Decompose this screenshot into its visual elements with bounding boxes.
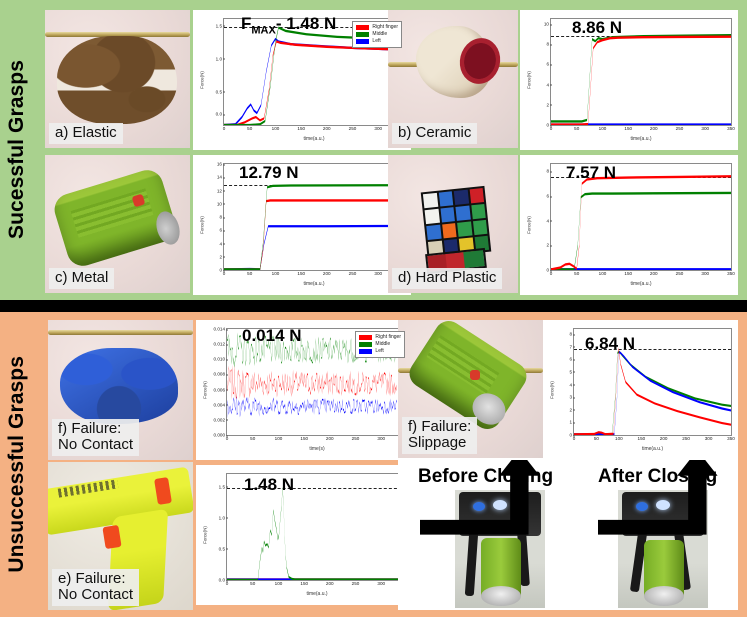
- caption-hard-plastic: d) Hard Plastic: [392, 268, 502, 289]
- plot-b-fmax: 8.86 N: [572, 18, 622, 38]
- plot-a-legend: Right finger Middle Left: [352, 21, 402, 48]
- plot-f1-fmax: 0.014 N: [242, 326, 302, 346]
- successful-grasps-label: Sucessful Grasps: [0, 0, 34, 300]
- plot-f1-legend: Right finger Middle Left: [355, 331, 405, 358]
- photo-slippage-can: f) Failure: Slippage: [398, 320, 543, 458]
- photo-no-contact-blue-toy: f) Failure: No Contact: [48, 320, 193, 460]
- plot-a-ylabel: Force(N): [199, 71, 204, 89]
- plot-f2-ylabel: Force(N): [549, 381, 554, 399]
- plot-f2-fmax: 6.84 N: [585, 334, 635, 354]
- plot-f1-xlabel: time(s): [226, 446, 408, 452]
- caption-no-contact-water-gun: e) Failure: No Contact: [52, 569, 139, 606]
- legend-swatch-middle: [356, 32, 369, 37]
- elastic-turtle-toy: [57, 36, 177, 124]
- legend-swatch-left: [359, 349, 372, 354]
- plot-hard-plastic: Force(N) time(a.u.) 0 2 4 6 8 0 50 100 1…: [520, 155, 738, 295]
- arrow-before-to-plot: [420, 460, 550, 552]
- section-divider: [0, 300, 747, 312]
- water-gun-trigger: [102, 525, 121, 549]
- caption-slippage: f) Failure: Slippage: [402, 417, 477, 454]
- blue-plastic-dog-toy: [60, 348, 178, 424]
- plot-a-xlabel: time(a.u.): [223, 136, 405, 142]
- plot-d-xlabel: time(a.u.): [550, 281, 732, 287]
- legend-item-middle: Middle: [359, 341, 401, 347]
- photo-hard-plastic: d) Hard Plastic: [388, 155, 518, 293]
- plot-d-ylabel: Force(N): [526, 216, 531, 234]
- can-bottom: [644, 586, 684, 606]
- can-logo-dot: [470, 370, 480, 380]
- photo-metal: c) Metal: [45, 155, 190, 293]
- plot-c-ylabel: Force(N): [199, 216, 204, 234]
- legend-swatch-middle: [359, 342, 372, 347]
- plot-no-contact-water-gun: Force(N) time(a.u.) 0.0 0.5 1.0 1.5 0 50…: [196, 465, 414, 605]
- unsuccessful-grasps-label: Unsuccessful Grasps: [0, 312, 34, 617]
- plot-e-ylabel: Force(N): [202, 526, 207, 544]
- photo-ceramic: b) Ceramic: [388, 10, 518, 148]
- plot-a-fmax: FMAX- 1.48 N: [241, 14, 336, 36]
- legend-item-right-finger: Right finger: [356, 24, 398, 30]
- legend-item-middle: Middle: [356, 31, 398, 37]
- caption-metal: c) Metal: [49, 268, 114, 289]
- photo-elastic: a) Elastic: [45, 10, 190, 148]
- plot-f1-ylabel: Force(N): [202, 381, 207, 399]
- grasp-results-figure: Sucessful Grasps Unsuccessful Grasps a) …: [0, 0, 747, 617]
- legend-swatch-right-finger: [359, 335, 372, 340]
- plot-f2-xlabel: time(a.u.): [573, 446, 732, 452]
- plot-slippage: Force(N) time(a.u.) 0 1 2 3 4 5 6 7 8 0 …: [543, 320, 738, 460]
- unsuccessful-grasps-text: Unsuccessful Grasps: [5, 356, 29, 573]
- plot-d-fmax: 7.57 N: [566, 163, 616, 183]
- plot-b-xlabel: time(a.u.): [550, 136, 732, 142]
- plot-elastic: Force(N) time(a.u.) 0.0 0.5 1.0 1.5 0 50…: [193, 10, 411, 150]
- caption-ceramic: b) Ceramic: [392, 123, 477, 144]
- photo-no-contact-water-gun: e) Failure: No Contact: [48, 462, 193, 610]
- plot-no-contact-blue-toy: Force(N) time(s) 0.000 0.002 0.004 0.006…: [196, 320, 414, 460]
- successful-grasps-text: Sucessful Grasps: [5, 60, 29, 239]
- legend-swatch-right-finger: [356, 25, 369, 30]
- arrow-after-to-plot: [598, 460, 728, 552]
- plot-b-ylabel: Force(N): [526, 71, 531, 89]
- support-rod: [48, 330, 193, 335]
- plot-ceramic: Force(N) time(a.u.) 0 2 4 6 8 10 0 50 10…: [520, 10, 738, 150]
- caption-no-contact-blue-toy: f) Failure: No Contact: [52, 419, 139, 456]
- plot-metal: Force(N) time(a.u.) 0 2 4 6 8 10 12 14 1…: [193, 155, 411, 295]
- legend-item-left: Left: [356, 38, 398, 44]
- plot-c-xlabel: time(a.u.): [223, 281, 405, 287]
- plot-e-fmax: 1.48 N: [244, 475, 294, 495]
- plot-e-xlabel: time(a.u.): [226, 591, 408, 597]
- legend-item-left: Left: [359, 348, 401, 354]
- plot-c-fmax: 12.79 N: [239, 163, 299, 183]
- legend-item-right-finger: Right finger: [359, 334, 401, 340]
- can-bottom: [481, 586, 521, 606]
- legend-swatch-left: [356, 39, 369, 44]
- caption-elastic: a) Elastic: [49, 123, 123, 144]
